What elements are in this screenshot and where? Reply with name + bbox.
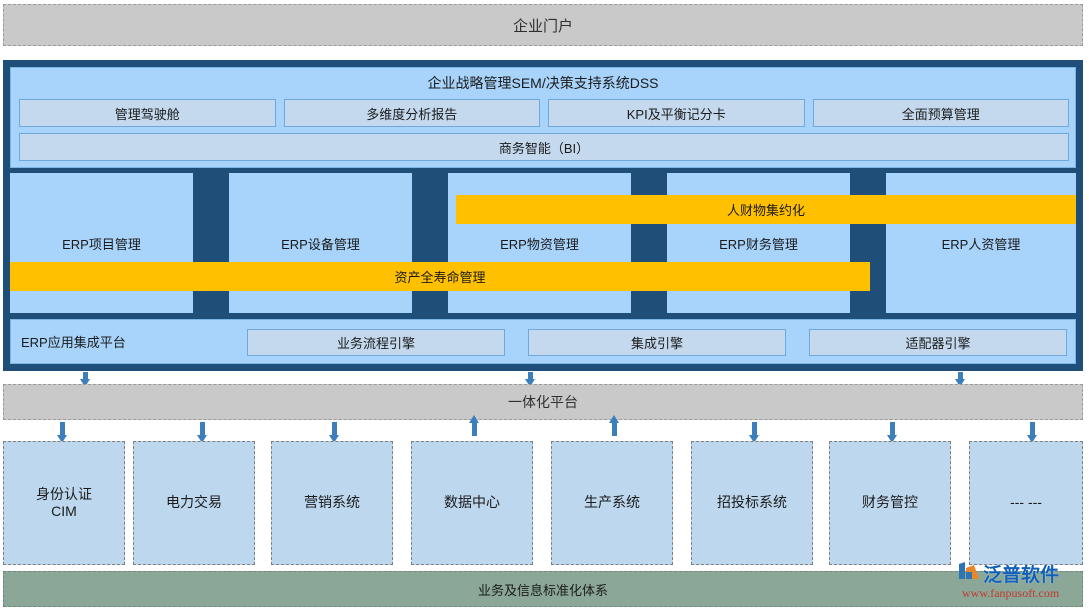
sem-cell-multidimensional-report[interactable]: 多维度分析报告 bbox=[284, 99, 541, 127]
arrow-system-bidding bbox=[752, 422, 757, 436]
engine-row: 业务流程引擎 集成引擎 适配器引擎 bbox=[247, 329, 1067, 356]
erp-column-hr-management[interactable]: ERP人资管理 bbox=[886, 173, 1076, 313]
erp-column-equipment-management[interactable]: ERP设备管理 bbox=[229, 173, 412, 313]
enterprise-portal-label: 企业门户 bbox=[513, 15, 573, 36]
arrow-system-identity bbox=[60, 422, 65, 436]
arrow-system-power-trading bbox=[200, 422, 205, 436]
system-box-bidding[interactable]: 招投标系统 bbox=[691, 441, 813, 565]
erp-integration-platform-label: ERP应用集成平台 bbox=[21, 320, 126, 363]
erp-column-finance-management[interactable]: ERP财务管理 bbox=[667, 173, 850, 313]
system-box-marketing[interactable]: 营销系统 bbox=[271, 441, 393, 565]
architecture-diagram: 企业门户 企业战略管理SEM/决策支持系统DSS 管理驾驶舱 多维度分析报告 K… bbox=[0, 0, 1089, 610]
erp-integration-platform: ERP应用集成平台 业务流程引擎 集成引擎 适配器引擎 bbox=[10, 319, 1076, 364]
arrow-system-production bbox=[612, 422, 617, 436]
sem-dss-title: 企业战略管理SEM/决策支持系统DSS bbox=[11, 73, 1075, 93]
erp-modules-band: ERP项目管理 ERP设备管理 ERP物资管理 ERP财务管理 ERP人资管理 … bbox=[10, 173, 1076, 313]
standards-system-label: 业务及信息标准化体系 bbox=[478, 580, 608, 599]
engine-adapter[interactable]: 适配器引擎 bbox=[809, 329, 1067, 356]
integration-platform-bar: 一体化平台 bbox=[3, 384, 1083, 420]
sem-cell-kpi-balanced-scorecard[interactable]: KPI及平衡记分卡 bbox=[548, 99, 805, 127]
business-intelligence-bar[interactable]: 商务智能（BI） bbox=[19, 133, 1069, 161]
arrow-system-others bbox=[1030, 422, 1035, 436]
engine-business-process[interactable]: 业务流程引擎 bbox=[247, 329, 505, 356]
orange-bar-asset-lifecycle-management[interactable]: 资产全寿命管理 bbox=[10, 262, 870, 291]
engine-integration[interactable]: 集成引擎 bbox=[528, 329, 786, 356]
sem-dss-cell-row: 管理驾驶舱 多维度分析报告 KPI及平衡记分卡 全面预算管理 bbox=[19, 99, 1069, 127]
system-box-production[interactable]: 生产系统 bbox=[551, 441, 673, 565]
system-box-others[interactable]: --- --- bbox=[969, 441, 1083, 565]
system-box-identity-cim[interactable]: 身份认证CIM bbox=[3, 441, 125, 565]
arrow-down-to-platform-1 bbox=[83, 372, 88, 380]
standards-system-bar: 业务及信息标准化体系 bbox=[3, 571, 1083, 607]
arrow-down-to-platform-3 bbox=[958, 372, 963, 380]
sem-dss-panel: 企业战略管理SEM/决策支持系统DSS 管理驾驶舱 多维度分析报告 KPI及平衡… bbox=[10, 67, 1076, 168]
erp-column-project-management[interactable]: ERP项目管理 bbox=[10, 173, 193, 313]
arrow-system-finance-control bbox=[890, 422, 895, 436]
application-block: 企业战略管理SEM/决策支持系统DSS 管理驾驶舱 多维度分析报告 KPI及平衡… bbox=[3, 60, 1083, 371]
integration-platform-label: 一体化平台 bbox=[508, 392, 578, 412]
sem-cell-comprehensive-budget[interactable]: 全面预算管理 bbox=[813, 99, 1070, 127]
arrow-system-data-center bbox=[472, 422, 477, 436]
system-box-finance-control[interactable]: 财务管控 bbox=[829, 441, 951, 565]
arrow-down-to-platform-2 bbox=[528, 372, 533, 380]
system-box-data-center[interactable]: 数据中心 bbox=[411, 441, 533, 565]
arrow-system-marketing bbox=[332, 422, 337, 436]
sem-cell-management-cockpit[interactable]: 管理驾驶舱 bbox=[19, 99, 276, 127]
system-box-power-trading[interactable]: 电力交易 bbox=[133, 441, 255, 565]
enterprise-portal-bar: 企业门户 bbox=[3, 4, 1083, 46]
erp-column-material-management[interactable]: ERP物资管理 bbox=[448, 173, 631, 313]
orange-bar-resource-intensification[interactable]: 人财物集约化 bbox=[456, 195, 1076, 224]
